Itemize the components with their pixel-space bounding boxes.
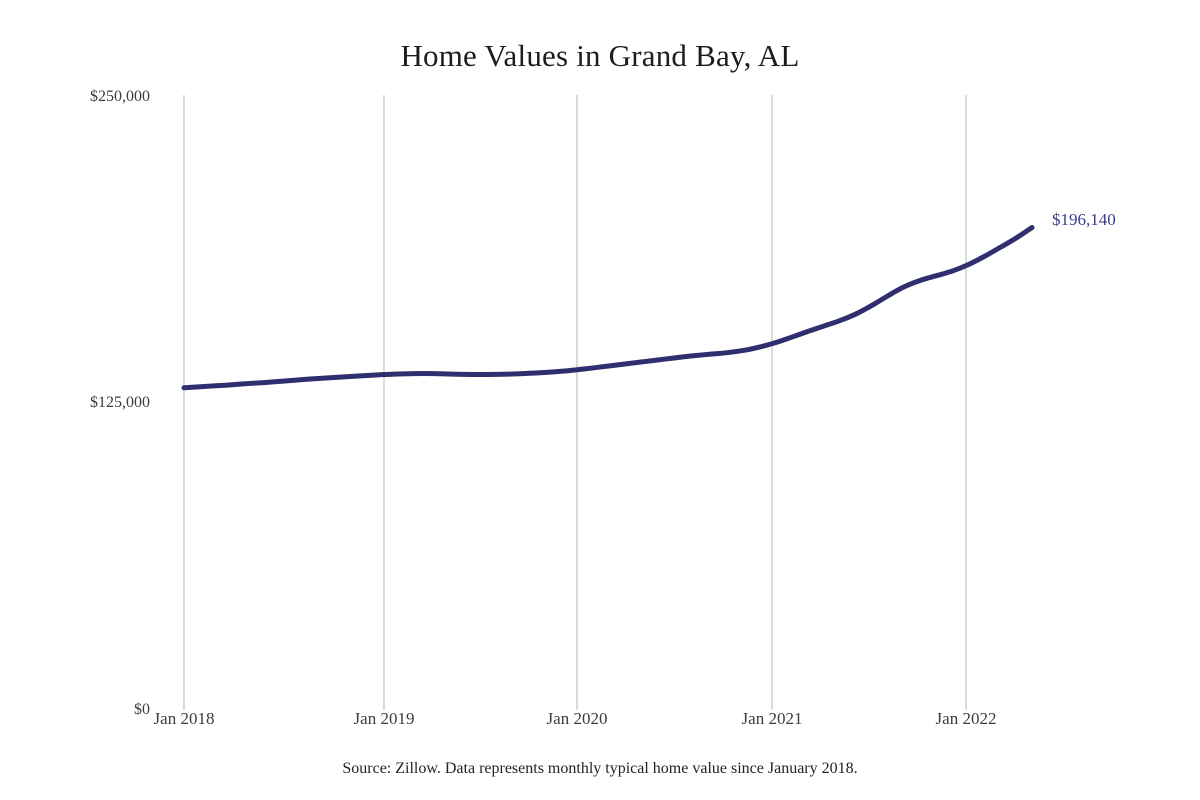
y-tick-label-250000: $250,000 <box>30 88 150 106</box>
chart-canvas <box>0 0 1200 800</box>
end-value-annotation: $196,140 <box>1052 210 1116 230</box>
x-tick-label-jan-2021: Jan 2021 <box>712 709 832 729</box>
plot-area <box>0 0 1200 800</box>
chart-figure: Home Values in Grand Bay, AL $250,000 $1… <box>0 0 1200 800</box>
value-line-series <box>184 228 1032 388</box>
x-tick-label-jan-2018: Jan 2018 <box>124 709 244 729</box>
x-tick-label-jan-2019: Jan 2019 <box>324 709 444 729</box>
source-note: Source: Zillow. Data represents monthly … <box>0 760 1200 778</box>
y-tick-label-125000: $125,000 <box>30 394 150 412</box>
x-tick-label-jan-2020: Jan 2020 <box>517 709 637 729</box>
x-tick-label-jan-2022: Jan 2022 <box>906 709 1026 729</box>
